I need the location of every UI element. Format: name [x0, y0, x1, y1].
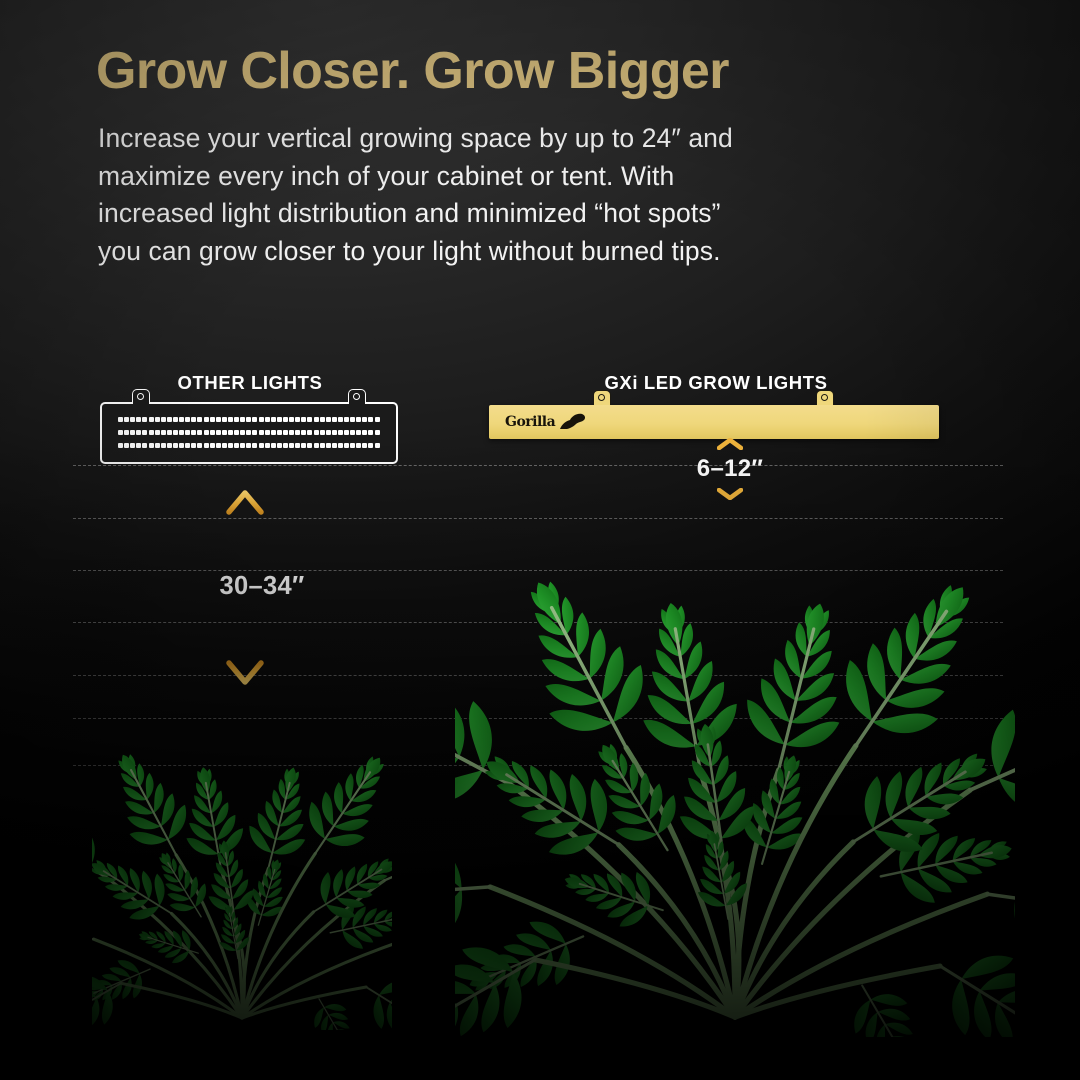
led-dot — [155, 430, 160, 435]
hanger-bracket-icon — [816, 390, 834, 405]
leaf — [368, 795, 392, 917]
led-dot — [179, 417, 184, 422]
led-dot — [246, 430, 251, 435]
led-dot — [216, 430, 221, 435]
led-dot — [197, 430, 202, 435]
leaf — [92, 738, 208, 872]
led-dot — [173, 417, 178, 422]
description-line-3: increased light distribution and minimiz… — [98, 195, 898, 233]
stem — [121, 983, 242, 1018]
gorilla-brand-logo: Gorilla — [505, 412, 587, 432]
leaf — [301, 988, 370, 1030]
led-dot — [118, 417, 123, 422]
led-dot — [375, 417, 380, 422]
description-paragraph: Increase your vertical growing space by … — [98, 120, 898, 270]
leaf — [133, 915, 204, 972]
led-dot — [356, 430, 361, 435]
led-dot — [314, 417, 319, 422]
gxi-light-fixture: Gorilla — [489, 405, 939, 439]
led-dot — [362, 430, 367, 435]
led-dot — [259, 443, 264, 448]
other-lights-distance-value: 30–34″ — [187, 572, 337, 601]
led-dot — [344, 430, 349, 435]
leaf — [944, 648, 1015, 849]
led-row — [118, 430, 380, 436]
leaf — [92, 903, 96, 983]
led-dot — [283, 430, 288, 435]
led-dot — [314, 443, 319, 448]
led-dot — [173, 443, 178, 448]
led-dot — [368, 430, 373, 435]
led-dot — [167, 443, 172, 448]
led-dot — [222, 430, 227, 435]
leaf — [349, 960, 392, 1030]
led-dot — [283, 443, 288, 448]
led-dot — [326, 443, 331, 448]
led-dot — [295, 417, 300, 422]
led-dot — [259, 430, 264, 435]
led-dot — [259, 417, 264, 422]
led-dot — [161, 417, 166, 422]
led-dot — [191, 417, 196, 422]
led-dot — [204, 417, 209, 422]
led-dot — [130, 430, 135, 435]
led-dot — [326, 430, 331, 435]
led-dot — [228, 430, 233, 435]
led-dot — [283, 417, 288, 422]
leaf — [727, 745, 829, 874]
led-dot — [338, 430, 343, 435]
led-dot — [161, 430, 166, 435]
led-dot — [204, 430, 209, 435]
led-dot — [167, 430, 172, 435]
led-dot — [185, 417, 190, 422]
led-dot — [124, 417, 129, 422]
led-dot — [326, 417, 331, 422]
led-dot — [265, 430, 270, 435]
led-dot — [301, 430, 306, 435]
led-dot — [149, 430, 154, 435]
arrow-down-icon — [225, 605, 265, 685]
leaf — [455, 632, 541, 842]
led-dot — [252, 443, 257, 448]
led-dot — [350, 430, 355, 435]
gorilla-silhouette-icon — [557, 412, 587, 432]
led-dot — [222, 417, 227, 422]
led-dot — [350, 417, 355, 422]
leaf — [485, 554, 679, 775]
leaf — [92, 785, 124, 912]
led-dot — [356, 443, 361, 448]
led-dot — [173, 430, 178, 435]
led-row — [118, 417, 380, 423]
led-dot — [228, 417, 233, 422]
led-dot — [210, 430, 215, 435]
led-dot — [362, 417, 367, 422]
hanger-bracket-icon — [132, 389, 150, 404]
led-dot — [185, 430, 190, 435]
led-dot — [301, 417, 306, 422]
led-dot — [375, 443, 380, 448]
led-dot — [320, 430, 325, 435]
gxi-distance-measure: 6–12″ — [650, 438, 810, 500]
led-dot — [314, 430, 319, 435]
led-dot — [118, 443, 123, 448]
led-dot — [167, 417, 172, 422]
led-dot — [301, 443, 306, 448]
led-dot — [338, 417, 343, 422]
led-dot — [289, 443, 294, 448]
led-dot — [344, 417, 349, 422]
led-dot — [246, 417, 251, 422]
led-dot — [124, 443, 129, 448]
led-dot — [142, 417, 147, 422]
led-dot — [197, 417, 202, 422]
led-dot — [179, 430, 184, 435]
led-dot — [332, 417, 337, 422]
leaf — [237, 853, 298, 931]
led-dot — [155, 443, 160, 448]
led-dot — [228, 443, 233, 448]
led-dot — [149, 443, 154, 448]
arrow-up-icon — [225, 490, 265, 570]
leaf — [832, 968, 946, 1037]
chevron-up-icon — [717, 438, 743, 450]
led-dot — [320, 443, 325, 448]
led-dot — [350, 443, 355, 448]
leaf — [805, 553, 1013, 780]
led-dot — [234, 417, 239, 422]
other-lights-fixture — [100, 402, 398, 464]
led-dot — [136, 443, 141, 448]
led-dot — [368, 417, 373, 422]
led-dot — [204, 443, 209, 448]
led-dot — [295, 443, 300, 448]
led-dot — [307, 430, 312, 435]
leaf — [285, 737, 392, 874]
led-dot — [155, 417, 160, 422]
gorilla-wordmark: Gorilla — [505, 415, 555, 429]
plant-illustration-large — [455, 492, 1015, 1037]
led-dot — [252, 430, 257, 435]
led-dot — [210, 443, 215, 448]
description-line-2: maximize every inch of your cabinet or t… — [98, 158, 898, 196]
leaf — [455, 827, 494, 960]
led-dot — [252, 417, 257, 422]
led-dot-grid — [118, 417, 380, 449]
led-dot — [246, 443, 251, 448]
hanger-bracket-icon — [593, 390, 611, 405]
led-dot — [191, 443, 196, 448]
led-dot — [210, 417, 215, 422]
led-dot — [332, 430, 337, 435]
led-dot — [142, 443, 147, 448]
led-dot — [271, 417, 276, 422]
led-dot — [130, 417, 135, 422]
led-dot — [375, 430, 380, 435]
hanger-bracket-icon — [348, 389, 366, 404]
stem — [242, 943, 392, 1018]
led-dot — [149, 417, 154, 422]
led-dot — [216, 417, 221, 422]
led-dot — [142, 430, 147, 435]
led-dot — [240, 430, 245, 435]
led-dot — [332, 443, 337, 448]
led-dot — [295, 430, 300, 435]
led-dot — [307, 417, 312, 422]
led-dot — [338, 443, 343, 448]
led-dot — [240, 417, 245, 422]
led-dot — [271, 443, 276, 448]
led-dot — [265, 417, 270, 422]
led-dot — [130, 443, 135, 448]
led-dot — [179, 443, 184, 448]
gxi-lights-label: GXi LED GROW LIGHTS — [490, 372, 942, 394]
led-dot — [185, 443, 190, 448]
led-dot — [289, 430, 294, 435]
led-dot — [191, 430, 196, 435]
led-dot — [362, 443, 367, 448]
led-dot — [356, 417, 361, 422]
led-dot — [216, 443, 221, 448]
led-dot — [344, 443, 349, 448]
description-line-4: you can grow closer to your light withou… — [98, 233, 898, 271]
led-dot — [271, 430, 276, 435]
description-line-1: Increase your vertical growing space by … — [98, 120, 898, 158]
led-dot — [136, 430, 141, 435]
led-dot — [277, 443, 282, 448]
infographic-canvas: Grow Closer. Grow Bigger Increase your v… — [0, 0, 1080, 1080]
led-dot — [265, 443, 270, 448]
led-dot — [234, 443, 239, 448]
led-dot — [289, 417, 294, 422]
led-dot — [320, 417, 325, 422]
led-dot — [222, 443, 227, 448]
leaf — [912, 922, 1015, 1037]
leaf — [872, 807, 1015, 919]
led-dot — [136, 417, 141, 422]
plant-illustration-small — [92, 700, 392, 1030]
led-dot — [368, 443, 373, 448]
led-dot — [124, 430, 129, 435]
led-row — [118, 443, 380, 449]
led-dot — [277, 417, 282, 422]
led-dot — [307, 443, 312, 448]
led-dot — [277, 430, 282, 435]
led-dot — [161, 443, 166, 448]
page-title: Grow Closer. Grow Bigger — [96, 44, 976, 99]
led-dot — [234, 430, 239, 435]
led-dot — [240, 443, 245, 448]
stem — [535, 960, 735, 1017]
led-dot — [118, 430, 123, 435]
gxi-distance-value: 6–12″ — [697, 457, 763, 481]
stem — [735, 894, 987, 1017]
other-lights-distance-measure: 30–34″ — [187, 490, 337, 685]
led-dot — [197, 443, 202, 448]
leaf — [555, 848, 673, 942]
